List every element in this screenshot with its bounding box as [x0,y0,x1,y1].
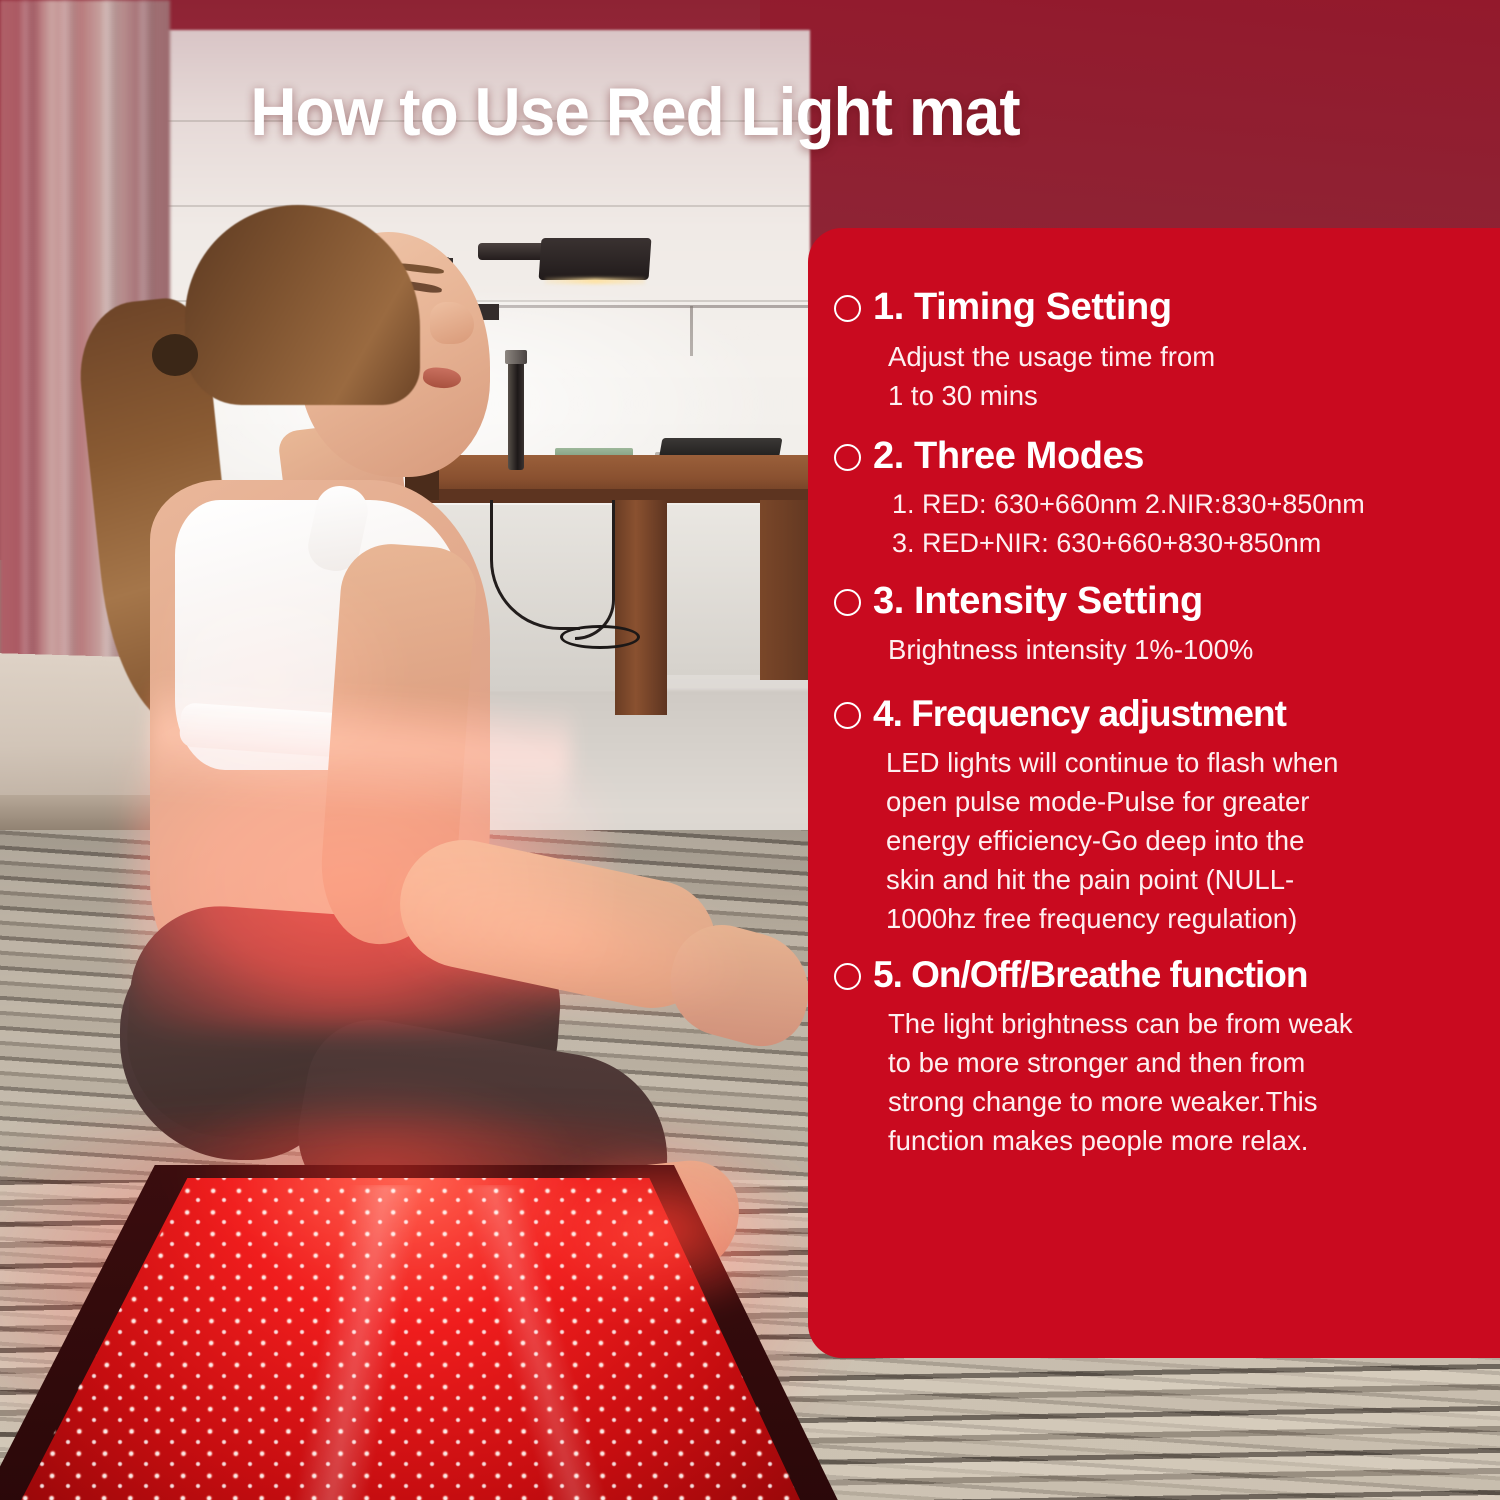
nose [430,302,474,344]
instruction-body-line: 1. RED: 630+660nm 2.NIR:830+850nm [892,485,1468,523]
instruction-body-1: Adjust the usage time from 1 to 30 mins [888,337,1468,415]
instruction-body-line: strong change to more weaker.This [888,1082,1468,1121]
circle-outline-icon [834,702,861,729]
instruction-item-4: 4. Frequency adjustment LED lights will … [834,693,1468,938]
instruction-item-5: 5. On/Off/Breathe function The light bri… [834,954,1468,1160]
instruction-body-line: Adjust the usage time from [888,337,1468,376]
instructions-panel: 1. Timing Setting Adjust the usage time … [808,228,1500,1358]
instruction-body-line: to be more stronger and then from [888,1043,1468,1082]
instruction-body-line: The light brightness can be from weak [888,1004,1468,1043]
instruction-body-line: energy efficiency-Go deep into the [886,821,1468,860]
instruction-body-line: LED lights will continue to flash when [886,743,1468,782]
instruction-body-line: 1000hz free frequency regulation) [886,899,1468,938]
instruction-body-4: LED lights will continue to flash when o… [886,743,1468,938]
instruction-body-line: open pulse mode-Pulse for greater [886,782,1468,821]
instruction-body-line: skin and hit the pain point (NULL- [886,860,1468,899]
circle-outline-icon [834,589,861,616]
red-light-glow-foot [520,1140,800,1320]
circle-outline-icon [834,295,861,322]
instruction-heading-5: 5. On/Off/Breathe function [873,954,1307,995]
instruction-body-line: function makes people more relax. [888,1121,1468,1160]
hair-tie [152,334,198,376]
instruction-body-5: The light brightness can be from weak to… [888,1004,1468,1160]
instruction-body-3: Brightness intensity 1%-100% [888,630,1468,669]
instruction-body-line: 3. RED+NIR: 630+660+830+850nm [892,524,1468,562]
instruction-item-1: 1. Timing Setting Adjust the usage time … [834,286,1468,415]
infographic-canvas: How to Use Red Light mat 1. Timing Setti… [0,0,1500,1500]
instruction-item-2: 2. Three Modes 1. RED: 630+660nm 2.NIR:8… [834,435,1468,562]
instruction-heading-1: 1. Timing Setting [873,286,1172,329]
circle-outline-icon [834,444,861,471]
page-title: How to Use Red Light mat [38,78,1232,146]
instruction-heading-3: 3. Intensity Setting [873,580,1203,623]
instruction-body-2: 1. RED: 630+660nm 2.NIR:830+850nm 3. RED… [892,485,1468,562]
instruction-heading-4: 4. Frequency adjustment [873,693,1286,734]
circle-outline-icon [834,963,861,990]
instruction-heading-2: 2. Three Modes [873,435,1144,478]
instruction-body-line: 1 to 30 mins [888,376,1468,415]
instruction-body-line: Brightness intensity 1%-100% [888,630,1468,669]
instruction-item-3: 3. Intensity Setting Brightness intensit… [834,580,1468,670]
